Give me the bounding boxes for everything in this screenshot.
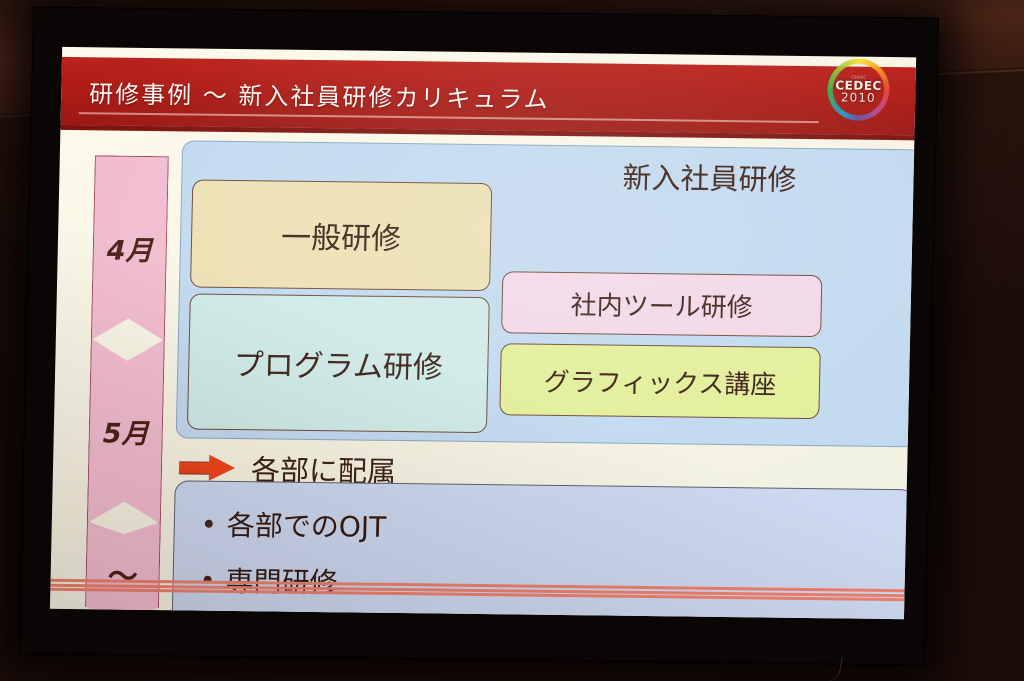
card-graphics-course: グラフィックス講座 [499, 343, 821, 419]
projection-screen: 研修事例 ～ 新入社員研修カリキュラム CEDEC CEDEC 2010 4月 [19, 7, 939, 666]
bullet-icon [205, 520, 213, 528]
cable [799, 651, 843, 681]
card-internal-tool-training: 社内ツール研修 [501, 271, 822, 337]
list-item: 各部でのOJT [204, 504, 913, 553]
cedec-tagline: CEDEC [835, 75, 882, 80]
card-label: グラフィックス講座 [543, 361, 777, 401]
timeline-label: 5月 [103, 411, 150, 451]
cedec-year: 2010 [835, 91, 882, 104]
timeline-column: 4月 5月 ～ [85, 155, 169, 619]
card-label: 一般研修 [281, 213, 402, 258]
card-program-training: プログラム研修 [187, 293, 490, 433]
right-arrow-icon [179, 454, 236, 481]
slide-title-bar: 研修事例 ～ 新入社員研修カリキュラム CEDEC CEDEC 2010 [61, 57, 916, 135]
timeline-cell-may: 5月 [87, 338, 165, 524]
timeline-cell-april: 4月 [91, 155, 169, 341]
presentation-slide: 研修事例 ～ 新入社員研修カリキュラム CEDEC CEDEC 2010 4月 [50, 47, 916, 619]
card-label: プログラム研修 [233, 340, 443, 387]
card-general-training: 一般研修 [190, 179, 492, 291]
curriculum-panel: 新入社員研修 一般研修 プログラム研修 社内ツール研修 グラフィックス講座 [176, 140, 916, 447]
arrow-head [209, 455, 236, 481]
curriculum-heading: 新入社員研修 [622, 155, 797, 199]
title-underline [79, 112, 819, 123]
card-label: 社内ツール研修 [570, 285, 753, 324]
title-bottom-edge [60, 125, 914, 140]
cedec-wordmark: CEDEC CEDEC 2010 [835, 75, 882, 104]
timeline-cell-onward: ～ [85, 521, 161, 619]
list-item-label: 各部でのOJT [226, 504, 386, 546]
auditorium-room: 研修事例 ～ 新入社員研修カリキュラム CEDEC CEDEC 2010 4月 [0, 0, 1024, 681]
slide-title: 研修事例 ～ 新入社員研修カリキュラム [89, 74, 550, 115]
cedec-logo: CEDEC CEDEC 2010 [827, 58, 890, 121]
timeline-label: 4月 [107, 228, 154, 268]
